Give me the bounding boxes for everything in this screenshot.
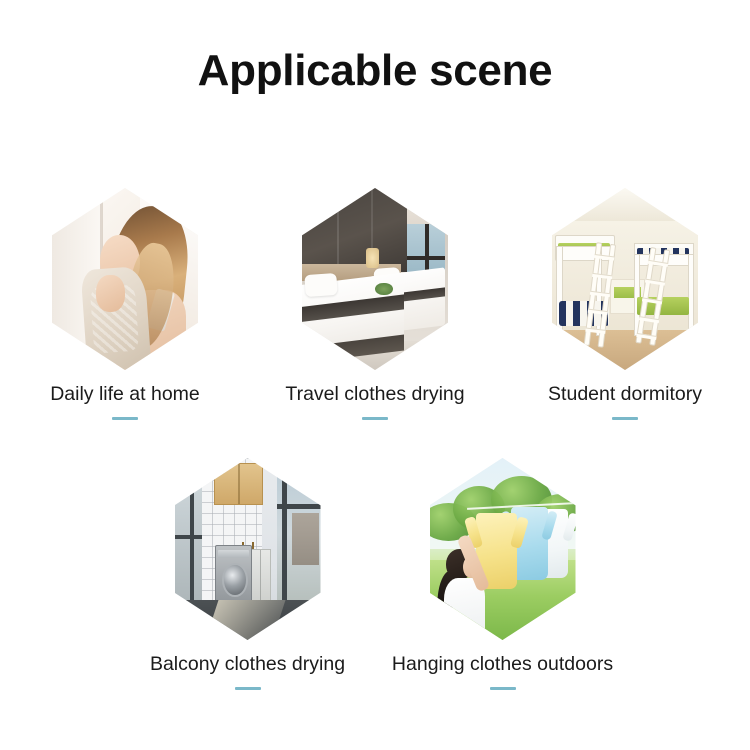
- headboard-wall: [302, 188, 407, 272]
- wood-wall-cabinet: [214, 463, 263, 505]
- accent-underline: [362, 417, 388, 420]
- scene-image-student-dormitory: [552, 188, 698, 370]
- page-title: Applicable scene: [0, 47, 750, 95]
- accent-underline: [235, 687, 261, 690]
- window-frame-horizontal: [175, 535, 203, 539]
- scene-row-bottom: Balcony clothes drying: [0, 458, 750, 690]
- plant-decor: [375, 283, 393, 296]
- accent-underline: [112, 417, 138, 420]
- illustration-hotel-twin-beds: [302, 188, 448, 370]
- scene-label-hanging-clothes-outdoors: Hanging clothes outdoors: [392, 653, 613, 676]
- illustration-dorm-bunk-beds: [552, 188, 698, 370]
- lower-cabinet: [249, 549, 271, 602]
- window-frame-vertical: [190, 483, 194, 599]
- washing-machine: [215, 545, 252, 602]
- scene-card-student-dormitory[interactable]: Student dormitory: [500, 188, 750, 420]
- scene-card-travel-clothes-drying[interactable]: Travel clothes drying: [250, 188, 500, 420]
- bedside-lamp: [366, 248, 379, 268]
- scene-label-travel-clothes-drying: Travel clothes drying: [285, 383, 464, 406]
- accent-underline: [612, 417, 638, 420]
- scene-card-balcony-clothes-drying[interactable]: Balcony clothes drying: [120, 458, 375, 690]
- scene-card-daily-life-at-home[interactable]: Daily life at home: [0, 188, 250, 420]
- applicable-scene-page: Applicable scene Daily life at home: [0, 0, 750, 750]
- scene-image-daily-life-at-home: [52, 188, 198, 370]
- illustration-outdoor-laundry: [430, 458, 576, 640]
- hand-shape: [96, 275, 125, 311]
- balcony-window-left: [175, 483, 203, 599]
- washer-door: [222, 563, 248, 598]
- bunk-right-post-b: [688, 254, 694, 336]
- dorm-floor: [552, 330, 698, 370]
- dorm-ceiling: [552, 188, 698, 224]
- balcony-window-right: [277, 458, 321, 611]
- scene-label-student-dormitory: Student dormitory: [548, 383, 702, 406]
- window-frame-vertical: [282, 458, 287, 611]
- pillow-first-bed: [304, 272, 338, 296]
- scene-image-balcony-clothes-drying: [175, 458, 321, 640]
- window-mullion-horizontal: [407, 256, 445, 260]
- scene-label-balcony-clothes-drying: Balcony clothes drying: [150, 653, 345, 676]
- window-frame-horizontal: [277, 504, 321, 509]
- scene-image-travel-clothes-drying: [302, 188, 448, 370]
- scene-image-hanging-clothes-outdoors: [430, 458, 576, 640]
- scene-card-hanging-clothes-outdoors[interactable]: Hanging clothes outdoors: [375, 458, 630, 690]
- city-buildings: [292, 513, 318, 565]
- scene-label-daily-life-at-home: Daily life at home: [50, 383, 200, 406]
- illustration-balcony-laundry: [175, 458, 321, 640]
- washer-control-panel: [218, 550, 249, 559]
- illustration-woman-with-towel: [52, 188, 198, 370]
- balcony-floor: [175, 600, 321, 640]
- accent-underline: [490, 687, 516, 690]
- scene-row-top: Daily life at home: [0, 188, 750, 420]
